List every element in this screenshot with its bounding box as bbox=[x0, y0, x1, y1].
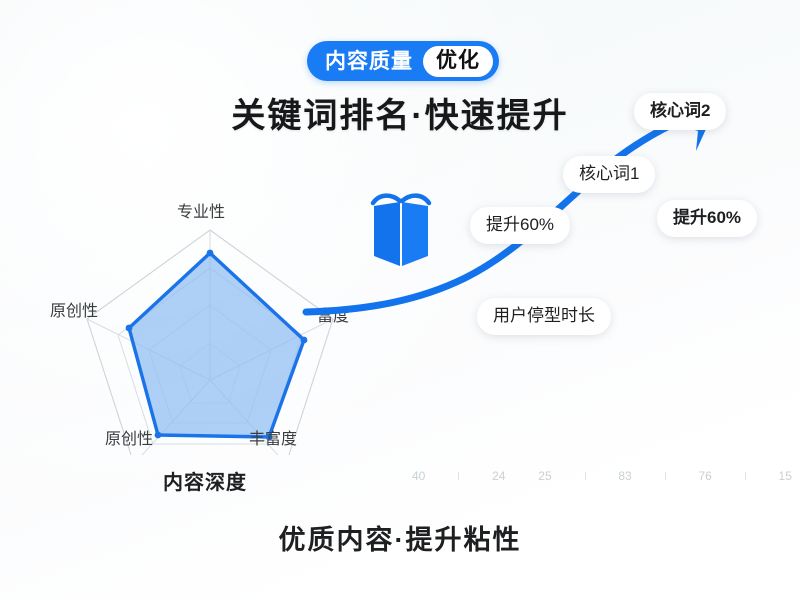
content-quality-badge[interactable]: 内容质量 优化 bbox=[307, 41, 499, 81]
open-book-icon bbox=[370, 188, 432, 270]
scale-value: 40 bbox=[412, 469, 425, 483]
radar-series bbox=[126, 250, 308, 441]
radar-axis-label-bottom-left: 原创性 bbox=[105, 425, 153, 449]
scale-value: 83 bbox=[618, 469, 631, 483]
scale-value: 24 bbox=[492, 469, 505, 483]
pill-boost-left[interactable]: 提升60% bbox=[470, 207, 570, 244]
radar-point bbox=[126, 325, 133, 332]
poster-canvas: 内容质量 优化 关键词排名·快速提升 bbox=[0, 0, 800, 600]
radar-axis-label-bottom-right: 丰富度 bbox=[249, 425, 297, 449]
scale-tick bbox=[585, 472, 586, 480]
scale-value: 76 bbox=[698, 469, 711, 483]
badge-tag-label: 优化 bbox=[423, 46, 493, 77]
content-depth-label: 内容深度 bbox=[163, 466, 247, 495]
scale-tick bbox=[665, 472, 666, 480]
pill-keyword-2[interactable]: 核心词2 bbox=[634, 93, 726, 130]
scale-tick bbox=[745, 472, 746, 480]
radar-point bbox=[207, 250, 214, 257]
pill-dwell-time[interactable]: 用户停型时长 bbox=[477, 298, 611, 335]
scale-tick bbox=[458, 472, 459, 480]
radar-axis-label-top: 专业性 bbox=[177, 198, 225, 222]
scale-value: 15 bbox=[779, 469, 792, 483]
pill-keyword-1[interactable]: 核心词1 bbox=[563, 156, 655, 193]
pill-boost-right[interactable]: 提升60% bbox=[657, 200, 757, 237]
radar-axis-label-left: 原创性 bbox=[50, 297, 98, 321]
radar-point bbox=[155, 432, 162, 439]
bottom-tagline: 优质内容·提升粘性 bbox=[0, 518, 800, 557]
badge-main-label: 内容质量 bbox=[325, 51, 423, 72]
scale-value: 25 bbox=[538, 469, 551, 483]
bottom-scale: 40 24 25 83 76 15 bbox=[412, 466, 792, 486]
